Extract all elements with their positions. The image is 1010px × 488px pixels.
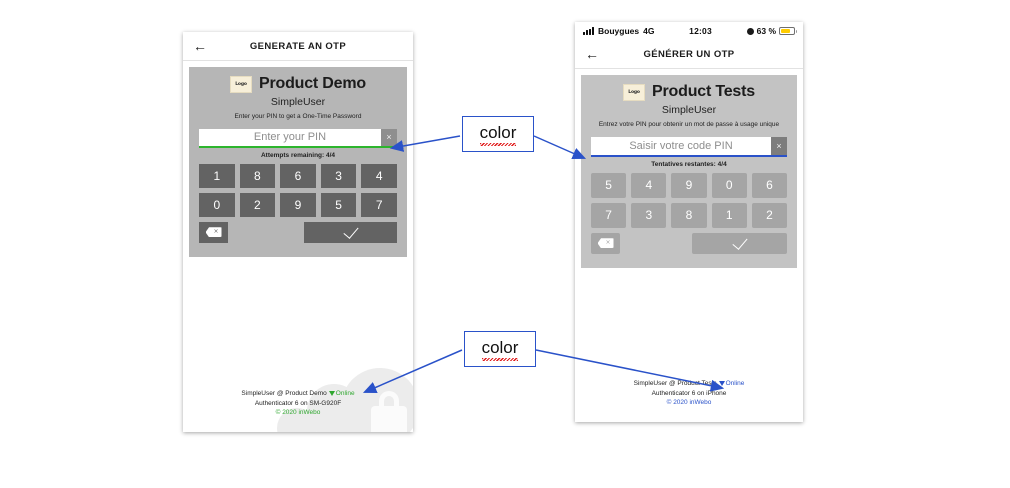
key-button[interactable]: 2: [752, 203, 787, 228]
annotation-arrows: [0, 0, 1010, 488]
key-button[interactable]: 9: [280, 193, 316, 217]
brand-title-left: Product Demo: [259, 75, 366, 93]
clear-icon[interactable]: ×: [381, 129, 397, 148]
screenshot-canvas: ← GENERATE AN OTP Logo Product Demo Simp…: [0, 0, 1010, 488]
footer-text-right: SimpleUser @ Product TestsOnline Authent…: [575, 379, 803, 408]
battery-percent-label: 63 %: [757, 26, 776, 36]
signal-bars-icon: [583, 27, 594, 35]
footer-device-line: Authenticator 6 on SM-G920F: [183, 399, 413, 409]
key-button[interactable]: 6: [752, 173, 787, 198]
phone-screenshot-left: ← GENERATE AN OTP Logo Product Demo Simp…: [183, 32, 413, 432]
key-button[interactable]: 3: [631, 203, 666, 228]
footer-account-line: SimpleUser @ Product DemoOnline: [183, 389, 413, 399]
key-button[interactable]: 4: [631, 173, 666, 198]
status-bar-right: 63 %: [747, 26, 795, 36]
ios-status-bar: Bouygues 4G 12:03 63 %: [575, 22, 803, 40]
backspace-icon[interactable]: ×: [591, 233, 620, 254]
key-button[interactable]: 8: [671, 203, 706, 228]
check-icon: [343, 223, 358, 239]
footer-account-text: SimpleUser @ Product Tests: [634, 380, 717, 387]
status-bar-left: Bouygues 4G: [583, 26, 654, 36]
carrier-label: Bouygues: [598, 26, 639, 36]
key-button[interactable]: 4: [361, 164, 397, 188]
wifi-icon: [329, 391, 335, 396]
key-button[interactable]: 3: [321, 164, 357, 188]
pin-input-row-left: Enter your PIN ×: [199, 129, 397, 148]
network-label: 4G: [643, 26, 654, 36]
check-icon: [732, 234, 747, 250]
keypad-action-row: ×: [199, 222, 397, 243]
battery-low-power-icon: [779, 27, 795, 35]
logo-icon: Logo: [230, 76, 252, 93]
footer-account-text: SimpleUser @ Product Demo: [241, 390, 326, 397]
pin-input-left[interactable]: Enter your PIN: [199, 129, 381, 148]
page-title-left: GENERATE AN OTP: [183, 41, 413, 52]
annotation-text: color: [480, 123, 517, 145]
keypad-row: 1 8 6 3 4: [199, 164, 397, 188]
footer-text-left: SimpleUser @ Product DemoOnline Authenti…: [183, 389, 413, 418]
pin-input-row-right: Saisir votre code PIN ×: [591, 137, 787, 157]
key-button[interactable]: 0: [712, 173, 747, 198]
keypad-left: 1 8 6 3 4 0 2 9 5 7 ×: [199, 164, 397, 243]
key-button[interactable]: 0: [199, 193, 235, 217]
key-button[interactable]: 7: [591, 203, 626, 228]
annotation-text: color: [482, 338, 519, 360]
phone-screenshot-right: Bouygues 4G 12:03 63 % ← GÉNÉRER UN OTP …: [575, 22, 803, 422]
otp-card-left: Logo Product Demo SimpleUser Enter your …: [189, 67, 407, 257]
key-button[interactable]: 2: [240, 193, 276, 217]
key-button[interactable]: 1: [199, 164, 235, 188]
key-button[interactable]: 8: [240, 164, 276, 188]
key-button[interactable]: 9: [671, 173, 706, 198]
status-badge: Online: [726, 380, 745, 387]
annotation-label-color-1: color: [462, 116, 534, 152]
attempts-remaining-left: Attempts remaining: 4/4: [199, 152, 397, 159]
key-button[interactable]: 7: [361, 193, 397, 217]
key-button[interactable]: 6: [280, 164, 316, 188]
key-button[interactable]: 5: [321, 193, 357, 217]
footer-device-line: Authenticator 6 on iPhone: [575, 389, 803, 399]
wifi-icon: [719, 381, 725, 386]
back-arrow-icon[interactable]: ←: [187, 39, 213, 53]
keypad-row: 7 3 8 1 2: [591, 203, 787, 228]
alarm-icon: [747, 28, 754, 35]
keypad-row: 5 4 9 0 6: [591, 173, 787, 198]
keypad-right: 5 4 9 0 6 7 3 8 1 2 ×: [591, 173, 787, 254]
pin-input-right[interactable]: Saisir votre code PIN: [591, 137, 771, 157]
pin-hint-left: Enter your PIN to get a One-Time Passwor…: [199, 113, 397, 122]
confirm-button[interactable]: [304, 222, 397, 243]
brand-row-left: Logo Product Demo: [199, 75, 397, 93]
app-bar-right: ← GÉNÉRER UN OTP: [575, 40, 803, 69]
key-button[interactable]: 5: [591, 173, 626, 198]
logo-icon: Logo: [623, 84, 645, 101]
clear-icon[interactable]: ×: [771, 137, 787, 157]
backspace-icon[interactable]: ×: [199, 222, 228, 243]
keypad-row: 0 2 9 5 7: [199, 193, 397, 217]
user-name-right: SimpleUser: [591, 104, 787, 116]
otp-card-right: Logo Product Tests SimpleUser Entrez vot…: [581, 75, 797, 268]
attempts-remaining-right: Tentatives restantes: 4/4: [591, 161, 787, 168]
back-arrow-icon[interactable]: ←: [579, 47, 605, 61]
annotation-label-color-2: color: [464, 331, 536, 367]
footer-copyright: © 2020 inWebo: [575, 398, 803, 408]
footer-account-line: SimpleUser @ Product TestsOnline: [575, 379, 803, 389]
pin-hint-right: Entrez votre PIN pour obtenir un mot de …: [591, 121, 787, 130]
keypad-action-row: ×: [591, 233, 787, 254]
confirm-button[interactable]: [692, 233, 787, 254]
footer-right: SimpleUser @ Product TestsOnline Authent…: [575, 312, 803, 422]
key-button[interactable]: 1: [712, 203, 747, 228]
user-name-left: SimpleUser: [199, 96, 397, 108]
page-title-right: GÉNÉRER UN OTP: [575, 49, 803, 60]
footer-copyright: © 2020 inWebo: [183, 408, 413, 418]
status-badge: Online: [336, 390, 355, 397]
app-bar-left: ← GENERATE AN OTP: [183, 32, 413, 61]
footer-left: SimpleUser @ Product DemoOnline Authenti…: [183, 322, 413, 432]
brand-title-right: Product Tests: [652, 83, 755, 101]
clock-label: 12:03: [654, 26, 746, 36]
brand-row-right: Logo Product Tests: [591, 83, 787, 101]
